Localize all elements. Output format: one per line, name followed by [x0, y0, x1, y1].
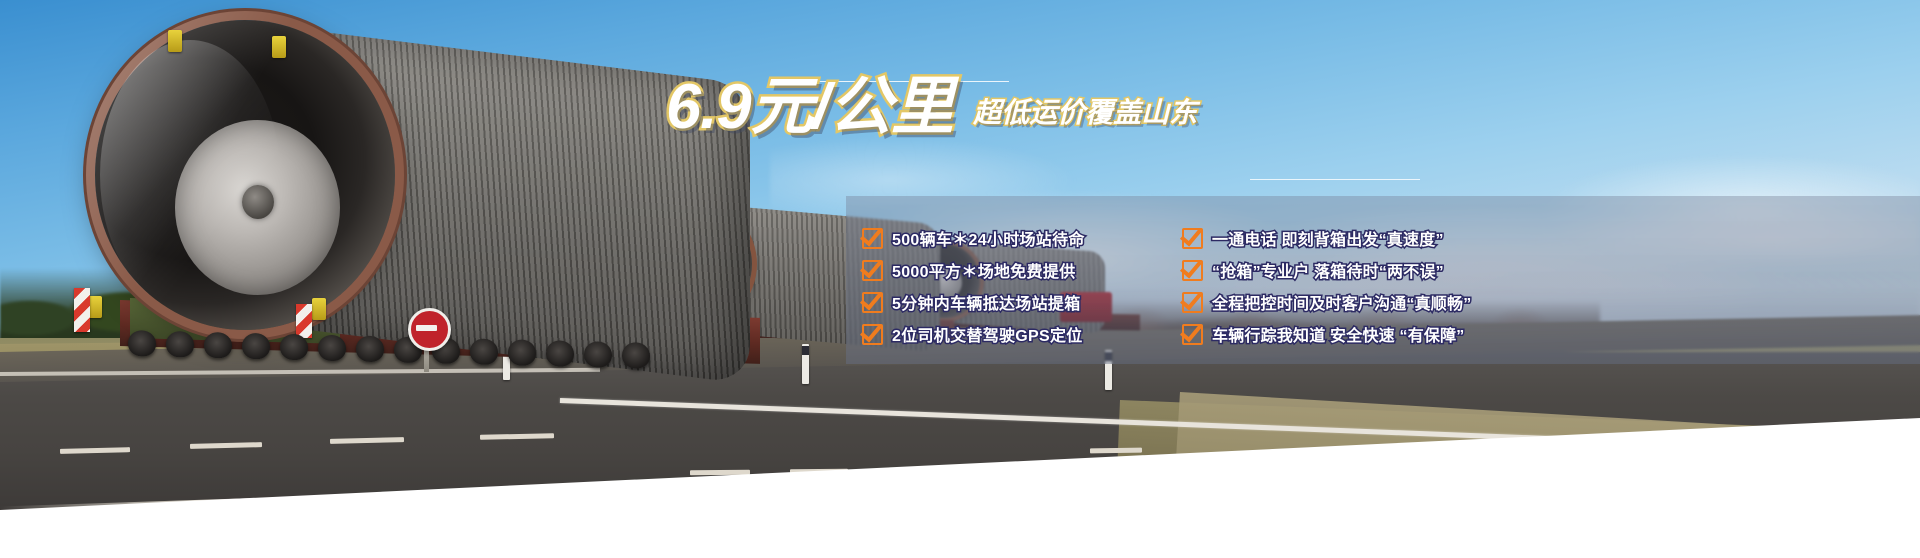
price-subtitle: 超低运价覆盖山东 [973, 91, 1197, 138]
trailer-wheel [280, 334, 308, 361]
feature-item: 车辆行踪我知道 安全快速 “有保障” [1182, 318, 1920, 350]
trailer-wheel [318, 335, 346, 362]
trailer-wheel [204, 332, 232, 359]
trailer-wheel [356, 336, 384, 363]
trailer-wheel [166, 331, 194, 358]
check-box-icon [862, 228, 883, 249]
feature-label: 5000平方＊场地免费提供 [892, 258, 1076, 282]
trailer-wheel [508, 339, 536, 366]
tank-clamp [88, 296, 102, 318]
feature-label: 一通电话 即刻背箱出发“真速度” [1212, 226, 1444, 250]
headline-block: 6.9元/公里 超低运价覆盖山东 [666, 78, 1197, 138]
feature-item: 全程把控时间及时客户沟通“真顺畅” [1182, 286, 1920, 318]
headline-rule-right [1250, 179, 1420, 180]
lane-dash [1090, 448, 1142, 454]
hazard-stripe-panel [296, 304, 312, 338]
feature-item: 一通电话 即刻背箱出发“真速度” [1182, 222, 1920, 254]
check-box-icon [1182, 228, 1203, 249]
check-box-icon [862, 324, 883, 345]
check-box-icon [862, 260, 883, 281]
tank-clamp [312, 298, 326, 320]
features-grid: 500辆车＊24小时场站待命 一通电话 即刻背箱出发“真速度” 5000平方＊场… [862, 222, 1920, 350]
trailer-wheel [584, 341, 612, 368]
giant-tank-hub [242, 185, 274, 219]
feature-label: “抢箱”专业户 落箱待时“两不误” [1212, 258, 1444, 282]
check-box-icon [1182, 324, 1203, 345]
trailer-wheel [128, 330, 156, 357]
feature-item: 5000平方＊场地免费提供 [862, 254, 1172, 286]
trailer-wheel [470, 338, 498, 365]
feature-item: “抢箱”专业户 落箱待时“两不误” [1182, 254, 1920, 286]
trailer-wheel [622, 342, 650, 369]
check-box-icon [862, 292, 883, 313]
feature-label: 车辆行踪我知道 安全快速 “有保障” [1212, 322, 1465, 346]
tank-clamp [168, 30, 182, 52]
trailer-wheel [546, 340, 574, 367]
feature-item: 500辆车＊24小时场站待命 [862, 222, 1172, 254]
hazard-stripe-panel [74, 288, 90, 332]
lane-dash [690, 470, 750, 476]
price-headline: 6.9元/公里 [666, 78, 953, 138]
tank-clamp [272, 36, 286, 58]
no-entry-sign-icon [408, 308, 451, 351]
feature-item: 2位司机交替驾驶GPS定位 [862, 318, 1172, 350]
check-box-icon [1182, 260, 1203, 281]
feature-item: 5分钟内车辆抵达场站提箱 [862, 286, 1172, 318]
check-box-icon [1182, 292, 1203, 313]
feature-label: 5分钟内车辆抵达场站提箱 [892, 290, 1081, 314]
feature-label: 全程把控时间及时客户沟通“真顺畅” [1212, 290, 1471, 314]
trailer-wheel [242, 333, 270, 360]
marker-post [802, 344, 809, 384]
feature-label: 2位司机交替驾驶GPS定位 [892, 322, 1083, 346]
feature-label: 500辆车＊24小时场站待命 [892, 226, 1085, 250]
promo-banner: 6.9元/公里 超低运价覆盖山东 500辆车＊24小时场站待命 一通电话 即刻背… [0, 0, 1920, 558]
